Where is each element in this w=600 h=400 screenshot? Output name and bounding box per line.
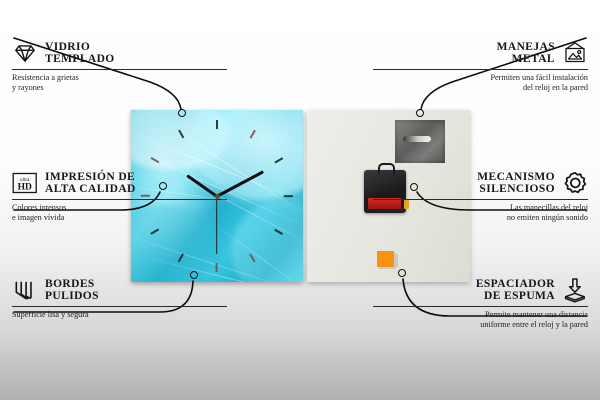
polished-edges-icon (12, 277, 38, 303)
feature-title: ESPACIADOR DE ESPUMA (476, 278, 555, 303)
feature-impresion-alta-calidad: ultra HD IMPRESIÓN DE ALTA CALIDAD Color… (12, 170, 227, 223)
picture-hanger-icon (562, 40, 588, 66)
feature-bordes-pulidos: BORDES PULIDOS Superficie lisa y segura (12, 277, 227, 320)
feature-desc: Resistencia a grietas y rayones (12, 73, 227, 93)
feature-vidrio-templado: VIDRIO TEMPLADO Resistencia a grietas y … (12, 40, 227, 93)
feature-title: MECANISMO SILENCIOSO (477, 171, 555, 196)
foam-spacer-icon (562, 277, 588, 303)
feature-title: MANEJAS METAL (497, 41, 555, 66)
feature-rule (373, 199, 588, 200)
feature-desc: Permite mantener una distancia uniforme … (373, 310, 588, 330)
feature-manejas-metal: MANEJAS METAL Permiten una fácil instala… (373, 40, 588, 93)
feature-title: VIDRIO TEMPLADO (45, 41, 115, 66)
feature-rule (373, 306, 588, 307)
feature-desc: Superficie lisa y segura (12, 310, 227, 320)
feature-title: IMPRESIÓN DE ALTA CALIDAD (45, 171, 136, 196)
feature-desc: Permiten una fácil instalación del reloj… (373, 73, 588, 93)
feature-desc: Las manecillas del reloj no emiten ningú… (373, 203, 588, 223)
ultra-hd-icon: ultra HD (12, 170, 38, 196)
gear-icon (562, 170, 588, 196)
foam-spacer (377, 251, 394, 267)
feature-desc: Colores intensos e imagen vívida (12, 203, 227, 223)
diamond-icon (12, 40, 38, 66)
metal-hanger (395, 120, 445, 163)
svg-text:HD: HD (18, 183, 32, 193)
connector-dot-glass (178, 109, 186, 117)
feature-rule (12, 306, 227, 307)
feature-rule (12, 69, 227, 70)
hanger-slot (403, 136, 431, 142)
feature-title: BORDES PULIDOS (45, 278, 99, 303)
connector-dot-spacer (398, 269, 406, 277)
feature-espaciador-de-espuma: ESPACIADOR DE ESPUMA Permite mantener un… (373, 277, 588, 330)
feature-rule (373, 69, 588, 70)
feature-mecanismo-silencioso: MECANISMO SILENCIOSO Las manecillas del … (373, 170, 588, 223)
infographic-stage: VIDRIO TEMPLADO Resistencia a grietas y … (0, 0, 600, 400)
connector-dot-handles (416, 109, 424, 117)
feature-rule (12, 199, 227, 200)
foam-spacer-shadow (394, 254, 398, 267)
